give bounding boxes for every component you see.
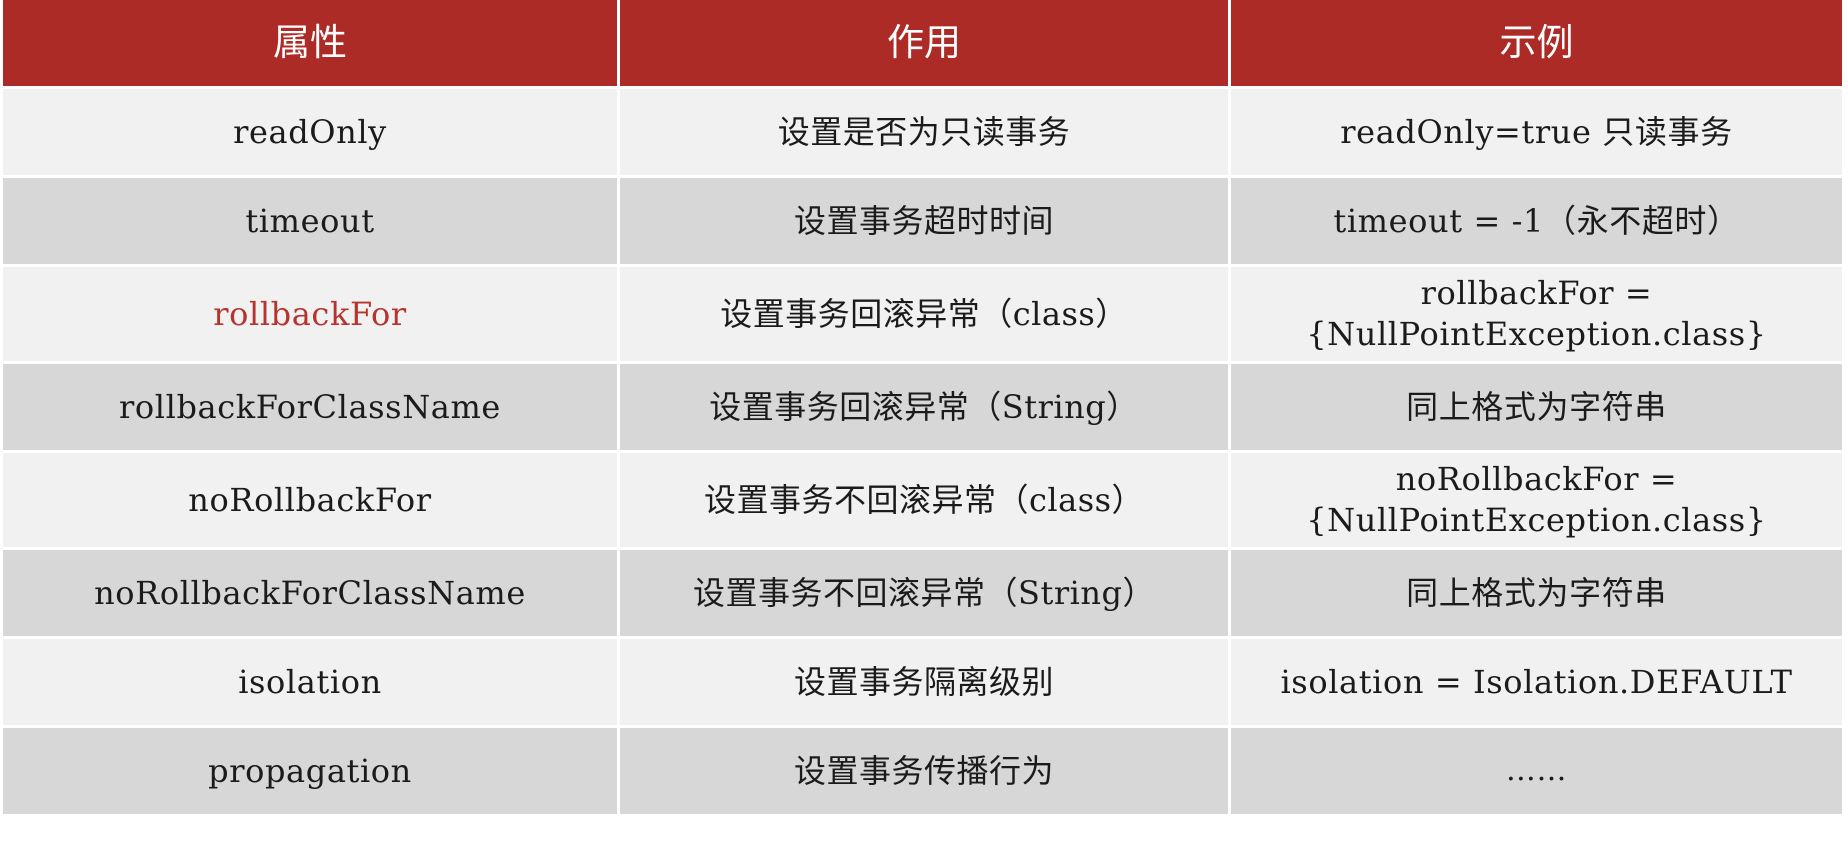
- cell-example: 同上格式为字符串: [1231, 550, 1842, 636]
- cell-example-line-1: noRollbackFor =: [1241, 459, 1832, 500]
- cell-example: isolation = Isolation.DEFAULT: [1231, 639, 1842, 725]
- cell-example-line-2: {NullPointException.class}: [1241, 314, 1832, 355]
- cell-effect: 设置事务回滚异常（String）: [620, 364, 1228, 450]
- cell-example: noRollbackFor ={NullPointException.class…: [1231, 453, 1842, 547]
- cell-effect: 设置是否为只读事务: [620, 89, 1228, 175]
- cell-effect: 设置事务隔离级别: [620, 639, 1228, 725]
- cell-effect: 设置事务不回滚异常（class）: [620, 453, 1228, 547]
- cell-attribute: noRollbackFor: [3, 453, 617, 547]
- table-row: timeout设置事务超时时间timeout = -1（永不超时）: [3, 178, 1842, 264]
- table-header: 属性 作用 示例: [3, 0, 1842, 86]
- cell-example-line-1: rollbackFor =: [1241, 273, 1832, 314]
- table-row: noRollbackFor设置事务不回滚异常（class）noRollbackF…: [3, 453, 1842, 547]
- column-header-effect: 作用: [620, 0, 1228, 86]
- table-row: propagation设置事务传播行为……: [3, 728, 1842, 814]
- table-header-row: 属性 作用 示例: [3, 0, 1842, 86]
- table-row: rollbackFor设置事务回滚异常（class）rollbackFor ={…: [3, 267, 1842, 361]
- table-row: noRollbackForClassName设置事务不回滚异常（String）同…: [3, 550, 1842, 636]
- cell-effect: 设置事务不回滚异常（String）: [620, 550, 1228, 636]
- table-row: rollbackForClassName设置事务回滚异常（String）同上格式…: [3, 364, 1842, 450]
- cell-attribute: propagation: [3, 728, 617, 814]
- cell-example: readOnly=true 只读事务: [1231, 89, 1842, 175]
- table-row: readOnly设置是否为只读事务readOnly=true 只读事务: [3, 89, 1842, 175]
- cell-attribute: readOnly: [3, 89, 617, 175]
- cell-example: ……: [1231, 728, 1842, 814]
- cell-attribute: noRollbackForClassName: [3, 550, 617, 636]
- table-row: isolation设置事务隔离级别isolation = Isolation.D…: [3, 639, 1842, 725]
- cell-attribute: timeout: [3, 178, 617, 264]
- cell-example: timeout = -1（永不超时）: [1231, 178, 1842, 264]
- cell-effect: 设置事务超时时间: [620, 178, 1228, 264]
- transaction-attributes-table-container: 属性 作用 示例 readOnly设置是否为只读事务readOnly=true …: [3, 0, 1828, 817]
- cell-effect: 设置事务传播行为: [620, 728, 1228, 814]
- cell-attribute: rollbackForClassName: [3, 364, 617, 450]
- cell-example: 同上格式为字符串: [1231, 364, 1842, 450]
- cell-effect: 设置事务回滚异常（class）: [620, 267, 1228, 361]
- column-header-attribute: 属性: [3, 0, 617, 86]
- column-header-example: 示例: [1231, 0, 1842, 86]
- transaction-attributes-table: 属性 作用 示例 readOnly设置是否为只读事务readOnly=true …: [0, 0, 1845, 817]
- cell-example: rollbackFor ={NullPointException.class}: [1231, 267, 1842, 361]
- cell-attribute: rollbackFor: [3, 267, 617, 361]
- cell-attribute: isolation: [3, 639, 617, 725]
- cell-example-line-2: {NullPointException.class}: [1241, 500, 1832, 541]
- table-body: readOnly设置是否为只读事务readOnly=true 只读事务timeo…: [3, 89, 1842, 814]
